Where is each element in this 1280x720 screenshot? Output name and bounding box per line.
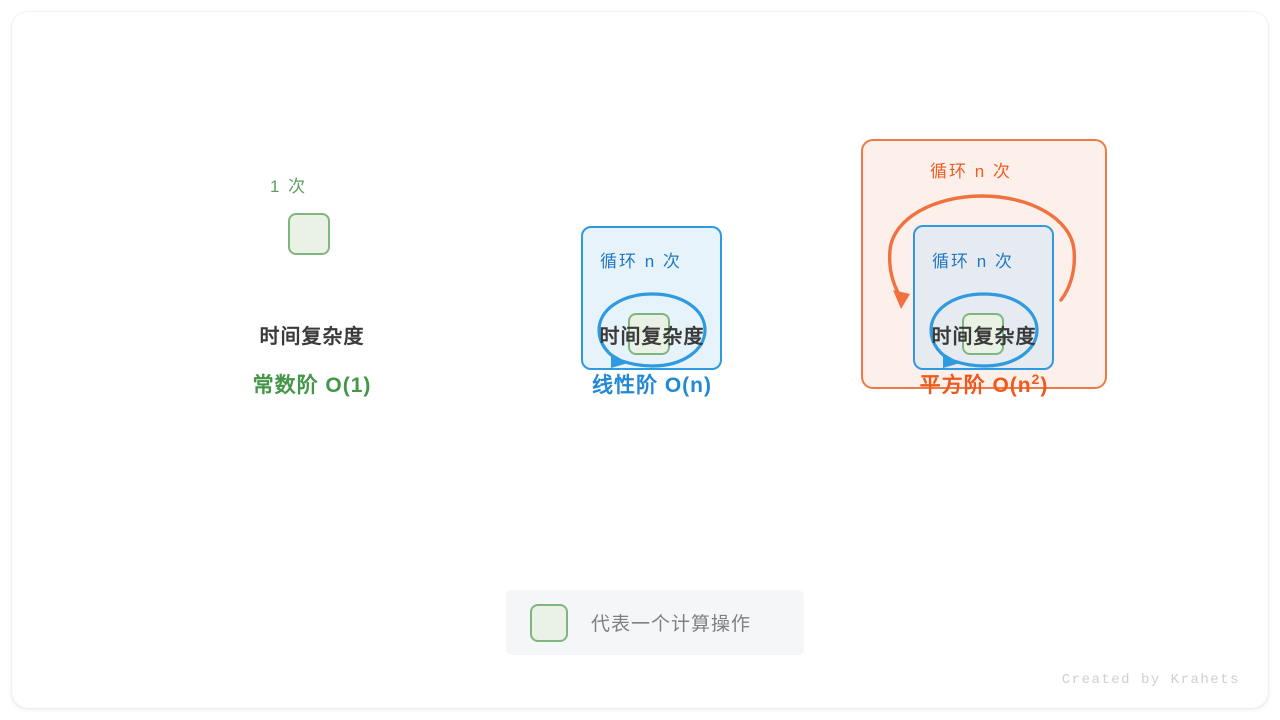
- constant-count-label: 1 次: [270, 172, 307, 197]
- caption-title: 时间复杂度: [182, 320, 442, 349]
- loop-label: 循环 n 次: [600, 247, 682, 272]
- legend-label: 代表一个计算操作: [591, 609, 751, 636]
- legend: 代表一个计算操作: [506, 590, 804, 655]
- caption-title: 时间复杂度: [522, 320, 782, 349]
- panel-constant-complexity: 1 次 时间复杂度 常数阶 O(1): [182, 112, 442, 402]
- caption-value: 常数阶 O(1): [182, 369, 442, 399]
- outer-loop-label: 循环 n 次: [930, 157, 1012, 182]
- constant-caption: 时间复杂度 常数阶 O(1): [182, 320, 442, 399]
- credit-text: Created by Krahets: [1062, 672, 1240, 688]
- caption-value: 平方阶 O(n2): [849, 369, 1119, 399]
- caption-value: 线性阶 O(n): [522, 369, 782, 399]
- panel-quadratic-complexity: 循环 n 次 循环 n 次 时间复杂度 平方阶 O(n2): [852, 112, 1122, 402]
- quadratic-caption: 时间复杂度 平方阶 O(n2): [849, 320, 1119, 399]
- inner-loop-label: 循环 n 次: [932, 247, 1014, 272]
- diagram-card: 1 次 时间复杂度 常数阶 O(1) 循环 n 次 时间复杂度 线性阶 O(n)…: [12, 12, 1268, 708]
- caption-title: 时间复杂度: [849, 320, 1119, 349]
- caption-value-prefix: 平方阶 O(n: [920, 374, 1032, 397]
- operation-swatch-icon: [530, 604, 568, 642]
- linear-caption: 时间复杂度 线性阶 O(n): [522, 320, 782, 399]
- operation-box: [288, 213, 330, 255]
- panel-linear-complexity: 循环 n 次 时间复杂度 线性阶 O(n): [522, 112, 782, 402]
- caption-value-suffix: ): [1040, 374, 1048, 397]
